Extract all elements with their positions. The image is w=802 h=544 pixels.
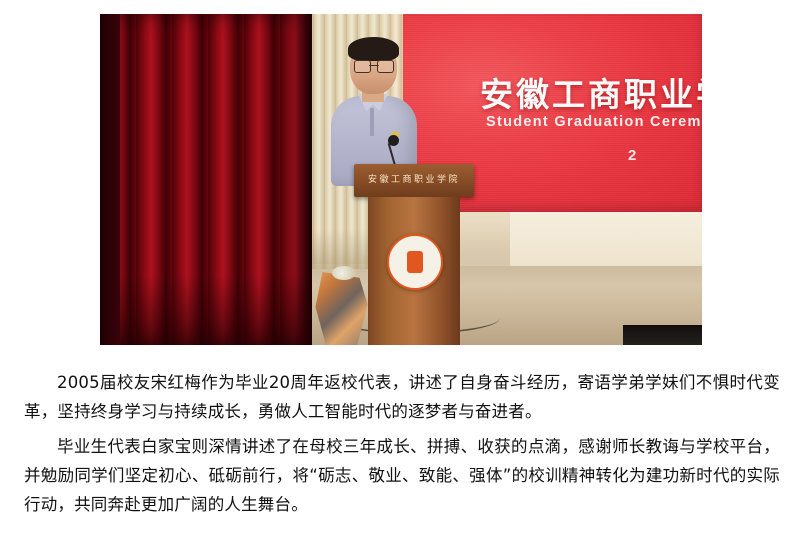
ceremony-photo: 安徽工商职业学院 Student Graduation Ceremony 2 [100, 14, 702, 345]
speaker-glasses-icon [354, 60, 394, 71]
speaker-shirt-placket [370, 108, 374, 136]
school-emblem-icon [387, 234, 443, 290]
foreground-black-equipment [623, 325, 702, 345]
photo-canvas: 安徽工商职业学院 Student Graduation Ceremony 2 [100, 14, 702, 345]
document-page: 安徽工商职业学院 Student Graduation Ceremony 2 [0, 0, 802, 544]
led-screen-subtitle: Student Graduation Ceremony [486, 114, 702, 130]
red-curtain [100, 14, 312, 345]
bouquet-flowers [332, 266, 356, 280]
led-screen-year: 2 [628, 147, 638, 164]
podium-school-name: 安徽工商职业学院 [354, 172, 474, 185]
paragraph-2: 毕业生代表白家宝则深情讲述了在母校三年成长、拼搏、收获的点滴，感谢师长教诲与学校… [24, 432, 780, 519]
podium-top: 安徽工商职业学院 [354, 164, 474, 197]
article-body: 2005届校友宋红梅作为毕业20周年返校代表，讲述了自身奋斗经历，寄语学弟学妹们… [24, 368, 780, 525]
red-curtain-shadow-edge [100, 14, 120, 345]
led-screen-title: 安徽工商职业学院 [480, 68, 702, 116]
microphone-head [388, 135, 399, 146]
paragraph-1: 2005届校友宋红梅作为毕业20周年返校代表，讲述了自身奋斗经历，寄语学弟学妹们… [24, 368, 780, 426]
speaker-hair [348, 37, 399, 61]
